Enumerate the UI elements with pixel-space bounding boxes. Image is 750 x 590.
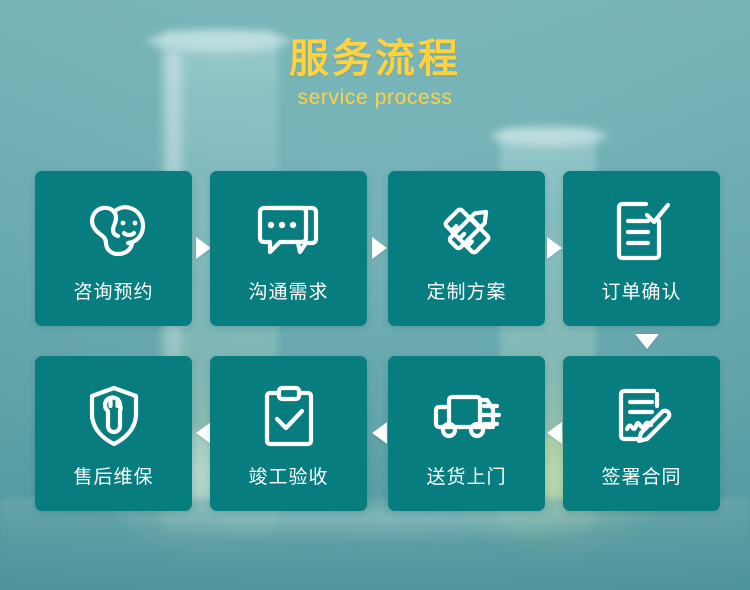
pencil-ruler-icon (435, 195, 499, 267)
shield-wrench-icon (84, 380, 144, 452)
step-card-acceptance[interactable]: 竣工验收 (210, 356, 367, 511)
chat-bubbles-icon (254, 195, 324, 267)
delivery-truck-icon (430, 380, 504, 452)
arrow-right-icon (547, 237, 562, 259)
step-label: 咨询预约 (73, 277, 153, 304)
step-card-consultation[interactable]: 咨询预约 (35, 171, 192, 326)
step-card-custom-plan[interactable]: 定制方案 (388, 171, 545, 326)
phone-smiley-icon (81, 195, 147, 267)
process-grid: 咨询预约 沟通需求 (35, 171, 715, 511)
step-label: 沟通需求 (248, 277, 328, 304)
arrow-left-icon (372, 422, 387, 444)
arrow-right-icon (372, 237, 387, 259)
step-label: 订单确认 (601, 277, 681, 304)
page-title: 服务流程 (0, 38, 750, 80)
page-subtitle: service process (0, 86, 750, 110)
service-process-banner: 服务流程 service process 咨询预约 (0, 0, 750, 590)
step-card-order-confirm[interactable]: 订单确认 (563, 171, 720, 326)
step-label: 竣工验收 (248, 462, 328, 489)
document-check-icon (612, 195, 672, 267)
contract-sign-icon (610, 380, 674, 452)
arrow-left-icon (547, 422, 562, 444)
step-card-communication[interactable]: 沟通需求 (210, 171, 367, 326)
process-row-1: 咨询预约 沟通需求 (35, 171, 715, 326)
arrow-left-icon (196, 422, 211, 444)
step-card-sign-contract[interactable]: 签署合同 (563, 356, 720, 511)
process-row-2: 售后维保 竣工验收 (35, 356, 715, 511)
arrow-down-icon (635, 334, 659, 349)
step-card-delivery[interactable]: 送货上门 (388, 356, 545, 511)
step-label: 定制方案 (426, 277, 506, 304)
arrow-right-icon (196, 237, 211, 259)
step-label: 售后维保 (73, 462, 153, 489)
banner-header: 服务流程 service process (0, 38, 750, 110)
step-label: 送货上门 (426, 462, 506, 489)
step-label: 签署合同 (601, 462, 681, 489)
step-card-after-sales[interactable]: 售后维保 (35, 356, 192, 511)
clipboard-check-icon (259, 380, 319, 452)
